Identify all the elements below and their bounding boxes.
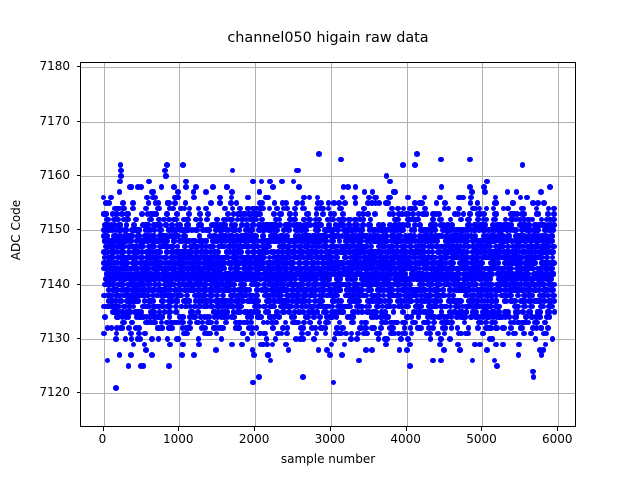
scatter-point <box>314 211 320 217</box>
scatter-point <box>136 298 142 304</box>
scatter-point <box>257 211 263 217</box>
scatter-point <box>447 336 453 342</box>
scatter-point <box>113 336 119 342</box>
scatter-point <box>254 325 260 331</box>
scatter-point <box>160 325 166 331</box>
scatter-point <box>364 331 370 337</box>
scatter-point <box>323 331 329 337</box>
scatter-point <box>455 325 461 331</box>
scatter-point <box>469 189 475 195</box>
scatter-point <box>305 331 311 337</box>
scatter-point <box>418 325 424 331</box>
scatter-point <box>441 287 447 293</box>
scatter-point <box>449 320 455 326</box>
scatter-point <box>294 200 300 206</box>
scatter-point <box>159 314 165 320</box>
scatter-point <box>156 206 162 212</box>
scatter-point <box>118 173 124 179</box>
scatter-point <box>409 331 415 337</box>
scatter-point <box>210 184 216 190</box>
scatter-point <box>101 331 107 337</box>
scatter-point <box>166 363 172 369</box>
scatter-point <box>332 336 338 342</box>
scatter-point <box>146 200 152 206</box>
scatter-point <box>414 151 420 157</box>
scatter-point <box>327 352 333 358</box>
scatter-point <box>113 385 119 391</box>
scatter-point <box>439 184 445 190</box>
scatter-point <box>345 184 351 190</box>
scatter-point <box>157 249 163 255</box>
scatter-point <box>208 200 214 206</box>
scatter-point <box>356 358 362 364</box>
scatter-point <box>387 298 393 304</box>
scatter-point <box>376 336 382 342</box>
scatter-point <box>129 336 135 342</box>
scatter-point <box>477 342 483 348</box>
scatter-point <box>146 179 152 185</box>
scatter-point <box>249 314 255 320</box>
scatter-point <box>138 184 144 190</box>
scatter-point <box>114 331 120 337</box>
scatter-point <box>247 287 253 293</box>
scatter-point <box>203 189 209 195</box>
scatter-point <box>124 222 130 228</box>
scatter-point <box>187 206 193 212</box>
scatter-point <box>130 206 136 212</box>
scatter-point <box>213 347 219 353</box>
scatter-point <box>383 342 389 348</box>
scatter-point <box>405 336 411 342</box>
scatter-point <box>169 325 175 331</box>
scatter-point <box>159 184 165 190</box>
scatter-point <box>319 298 325 304</box>
scatter-point <box>270 342 276 348</box>
scatter-point <box>361 217 367 223</box>
scatter-point <box>239 342 245 348</box>
scatter-point <box>239 249 245 255</box>
scatter-point <box>268 358 274 364</box>
scatter-point <box>250 179 256 185</box>
scatter-point <box>296 168 302 174</box>
scatter-point <box>187 325 193 331</box>
scatter-point <box>125 217 131 223</box>
scatter-point <box>191 195 197 201</box>
scatter-point <box>350 320 356 326</box>
scatter-point <box>137 227 143 233</box>
scatter-point <box>176 336 182 342</box>
scatter-point <box>301 325 307 331</box>
scatter-point <box>204 217 210 223</box>
scatter-point <box>229 342 235 348</box>
scatter-point <box>368 287 374 293</box>
scatter-point <box>259 179 265 185</box>
scatter-point <box>317 314 323 320</box>
scatter-point <box>443 325 449 331</box>
scatter-point <box>468 211 474 217</box>
scatter-point <box>180 342 186 348</box>
scatter-point <box>316 151 322 157</box>
scatter-point <box>174 211 180 217</box>
scatter-point <box>165 336 171 342</box>
scatter-points-layer <box>81 63 575 426</box>
scatter-point <box>133 217 139 223</box>
scatter-point <box>392 189 398 195</box>
scatter-point <box>394 320 400 326</box>
scatter-point <box>405 304 411 310</box>
scatter-point <box>441 347 447 353</box>
scatter-point <box>186 217 192 223</box>
scatter-point <box>406 195 412 201</box>
scatter-point <box>293 211 299 217</box>
scatter-point <box>102 314 108 320</box>
scatter-point <box>217 195 223 201</box>
scatter-point <box>438 336 444 342</box>
scatter-point <box>225 211 231 217</box>
scatter-point <box>273 320 279 326</box>
scatter-point <box>123 336 129 342</box>
scatter-point <box>251 352 257 358</box>
scatter-point <box>149 336 155 342</box>
scatter-point <box>129 184 135 190</box>
scatter-point <box>311 336 317 342</box>
scatter-point <box>106 200 112 206</box>
scatter-point <box>430 325 436 331</box>
scatter-point <box>164 162 170 168</box>
scatter-point <box>214 331 220 337</box>
scatter-point <box>430 358 436 364</box>
scatter-point <box>377 331 383 337</box>
scatter-point <box>342 342 348 348</box>
scatter-point <box>368 217 374 223</box>
figure-canvas: channel050 higain raw data 0100020003000… <box>0 0 640 480</box>
scatter-point <box>105 358 111 364</box>
scatter-point <box>223 320 229 326</box>
scatter-point <box>475 325 481 331</box>
scatter-point <box>286 347 292 353</box>
scatter-point <box>340 211 346 217</box>
scatter-point <box>438 298 444 304</box>
scatter-point <box>356 298 362 304</box>
scatter-point <box>141 363 147 369</box>
scatter-point <box>139 211 145 217</box>
scatter-point <box>250 380 256 386</box>
page-title: channel050 higain raw data <box>80 30 576 47</box>
scatter-point <box>256 374 262 380</box>
scatter-point <box>306 211 312 217</box>
scatter-point <box>397 347 403 353</box>
scatter-point <box>339 352 345 358</box>
scatter-point <box>149 352 155 358</box>
scatter-point <box>217 200 223 206</box>
scatter-point <box>128 352 134 358</box>
scatter-point <box>207 331 213 337</box>
scatter-point <box>120 325 126 331</box>
scatter-point <box>117 352 123 358</box>
scatter-point <box>402 320 408 326</box>
scatter-point <box>458 298 464 304</box>
scatter-point <box>391 309 397 315</box>
scatter-point <box>331 211 337 217</box>
scatter-point <box>407 363 413 369</box>
scatter-point <box>301 320 307 326</box>
scatter-point <box>230 168 236 174</box>
scatter-point <box>467 157 473 163</box>
scatter-point <box>353 200 359 206</box>
scatter-point <box>468 195 474 201</box>
scatter-point <box>431 320 437 326</box>
scatter-point <box>387 195 393 201</box>
scatter-point <box>470 358 476 364</box>
scatter-point <box>436 211 442 217</box>
scatter-point <box>229 189 235 195</box>
scatter-point <box>191 352 197 358</box>
plot-area <box>80 62 576 427</box>
scatter-point <box>187 320 193 326</box>
scatter-point <box>273 336 279 342</box>
scatter-point <box>167 342 173 348</box>
scatter-point <box>342 200 348 206</box>
scatter-point <box>424 211 430 217</box>
scatter-point <box>156 336 162 342</box>
scatter-point <box>460 195 466 201</box>
scatter-point <box>175 195 181 201</box>
scatter-point <box>353 184 359 190</box>
scatter-point <box>400 162 406 168</box>
scatter-point <box>119 298 125 304</box>
scatter-point <box>465 331 471 337</box>
scatter-point <box>369 347 375 353</box>
scatter-point <box>117 179 123 185</box>
scatter-point <box>291 179 297 185</box>
scatter-point <box>384 173 390 179</box>
scatter-point <box>422 195 428 201</box>
scatter-point <box>285 325 291 331</box>
scatter-point <box>387 179 393 185</box>
scatter-point <box>320 211 326 217</box>
scatter-point <box>331 380 337 386</box>
scatter-point <box>438 358 444 364</box>
scatter-point <box>240 331 246 337</box>
scatter-point <box>363 320 369 326</box>
scatter-point <box>193 184 199 190</box>
scatter-point <box>376 200 382 206</box>
scatter-point <box>349 331 355 337</box>
scatter-point <box>384 336 390 342</box>
scatter-point <box>118 168 124 174</box>
scatter-point <box>351 314 357 320</box>
scatter-point <box>260 206 266 212</box>
scatter-point <box>450 260 456 266</box>
scatter-point <box>428 336 434 342</box>
scatter-point <box>175 298 181 304</box>
scatter-point <box>412 227 418 233</box>
scatter-point <box>338 298 344 304</box>
scatter-point <box>279 179 285 185</box>
scatter-point <box>307 195 313 201</box>
scatter-point <box>163 173 169 179</box>
scatter-point <box>416 314 422 320</box>
scatter-point <box>338 157 344 163</box>
scatter-point <box>279 211 285 217</box>
scatter-point <box>179 352 185 358</box>
scatter-point <box>108 195 114 201</box>
scatter-point <box>449 325 455 331</box>
scatter-point <box>456 206 462 212</box>
scatter-point <box>153 211 159 217</box>
scatter-point <box>229 195 235 201</box>
scatter-point <box>271 211 277 217</box>
scatter-point <box>372 211 378 217</box>
scatter-point <box>398 336 404 342</box>
scatter-point <box>215 249 221 255</box>
scatter-point <box>117 189 123 195</box>
scatter-point <box>257 189 263 195</box>
scatter-point <box>183 200 189 206</box>
scatter-point <box>438 157 444 163</box>
scatter-point <box>296 184 302 190</box>
scatter-point <box>125 211 131 217</box>
scatter-point <box>458 217 464 223</box>
scatter-point <box>245 336 251 342</box>
scatter-point <box>270 325 276 331</box>
scatter-point <box>183 184 189 190</box>
scatter-point <box>455 211 461 217</box>
scatter-point <box>461 211 467 217</box>
scatter-point <box>172 200 178 206</box>
scatter-point <box>437 195 443 201</box>
scatter-point <box>329 342 335 348</box>
scatter-point <box>219 336 225 342</box>
scatter-point <box>196 342 202 348</box>
scatter-point <box>306 298 312 304</box>
scatter-point <box>338 287 344 293</box>
scatter-point <box>316 347 322 353</box>
scatter-point <box>186 211 192 217</box>
scatter-point <box>365 211 371 217</box>
scatter-point <box>137 336 143 342</box>
scatter-point <box>404 347 410 353</box>
scatter-point <box>287 211 293 217</box>
scatter-point <box>311 314 317 320</box>
scatter-point <box>327 276 333 282</box>
scatter-point <box>359 287 365 293</box>
scatter-point <box>284 331 290 337</box>
scatter-point <box>354 336 360 342</box>
scatter-point <box>255 298 261 304</box>
scatter-point <box>167 309 173 315</box>
scatter-point <box>220 325 226 331</box>
scatter-point <box>434 200 440 206</box>
scatter-point <box>301 336 307 342</box>
scatter-point <box>197 211 203 217</box>
scatter-point <box>205 211 211 217</box>
scatter-point <box>446 206 452 212</box>
scatter-point <box>185 331 191 337</box>
scatter-point <box>196 336 202 342</box>
scatter-point <box>325 320 331 326</box>
scatter-point <box>126 363 132 369</box>
scatter-point <box>160 298 166 304</box>
scatter-point <box>378 325 384 331</box>
scatter-point <box>180 162 186 168</box>
scatter-point <box>104 211 110 217</box>
scatter-point <box>407 342 413 348</box>
scatter-point <box>457 347 463 353</box>
scatter-point <box>183 179 189 185</box>
scatter-point <box>142 331 148 337</box>
scatter-point <box>245 195 251 201</box>
scatter-point <box>464 249 470 255</box>
scatter-point <box>187 298 193 304</box>
scatter-point <box>265 195 271 201</box>
scatter-point <box>412 162 418 168</box>
scatter-point <box>151 298 157 304</box>
scatter-point <box>286 227 292 233</box>
scatter-point <box>164 211 170 217</box>
scatter-point <box>181 314 187 320</box>
scatter-point <box>276 314 282 320</box>
scatter-point <box>314 331 320 337</box>
scatter-point <box>264 336 270 342</box>
scatter-point <box>249 331 255 337</box>
scatter-point <box>143 347 149 353</box>
scatter-point <box>270 184 276 190</box>
scatter-point <box>442 331 448 337</box>
scatter-point <box>131 342 137 348</box>
scatter-point <box>121 320 127 326</box>
scatter-point <box>300 374 306 380</box>
scatter-point <box>466 325 472 331</box>
